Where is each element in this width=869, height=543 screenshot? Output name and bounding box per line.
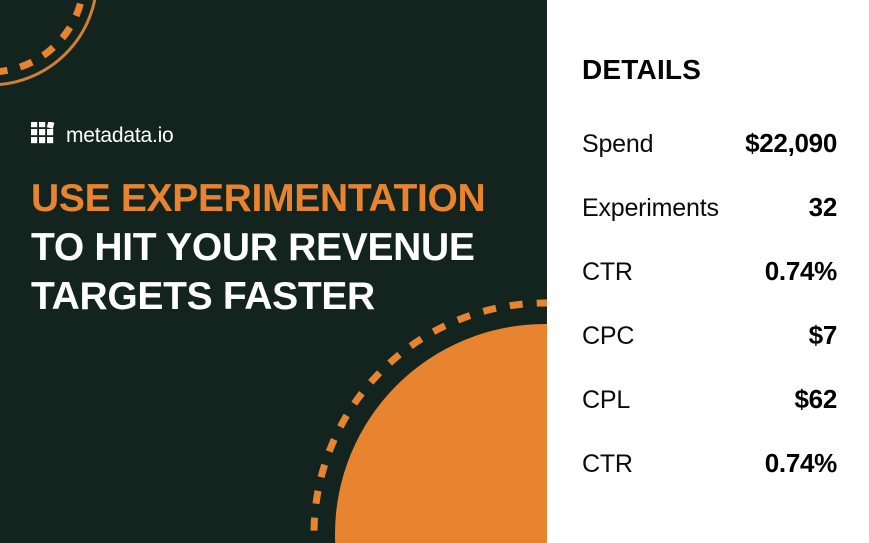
headline-line-3: TARGETS FASTER bbox=[31, 272, 531, 321]
metrics-list: Spend $22,090 Experiments 32 CTR 0.74% C… bbox=[582, 128, 837, 512]
metric-row-experiments: Experiments 32 bbox=[582, 192, 837, 256]
metric-label: CTR bbox=[582, 450, 633, 479]
metric-row-cpc: CPC $7 bbox=[582, 320, 837, 384]
details-title: DETAILS bbox=[582, 56, 701, 84]
ad-creative-details-screen: metadata.io USE EXPERIMENTATION TO HIT Y… bbox=[0, 0, 869, 543]
metric-label: Spend bbox=[582, 130, 653, 159]
dashed-arc-top-left-icon bbox=[0, 0, 84, 72]
metric-row-spend: Spend $22,090 bbox=[582, 128, 837, 192]
metric-value: 0.74% bbox=[765, 448, 837, 479]
orange-circle-bottom-right-icon bbox=[335, 324, 547, 543]
metric-value: 0.74% bbox=[765, 256, 837, 287]
metric-row-ctr: CTR 0.74% bbox=[582, 256, 837, 320]
metric-label: CTR bbox=[582, 258, 633, 287]
metadata-grid-logo-icon bbox=[31, 122, 57, 148]
metric-value: 32 bbox=[809, 192, 837, 223]
creative-panel: metadata.io USE EXPERIMENTATION TO HIT Y… bbox=[0, 0, 547, 543]
metric-value: $22,090 bbox=[745, 128, 837, 159]
solid-arc-top-left-icon bbox=[0, 0, 97, 85]
headline: USE EXPERIMENTATION TO HIT YOUR REVENUE … bbox=[31, 174, 531, 321]
metric-value: $62 bbox=[795, 384, 837, 415]
brand-wordmark: metadata.io bbox=[66, 125, 174, 146]
headline-line-2: TO HIT YOUR REVENUE bbox=[31, 223, 531, 272]
metric-label: Experiments bbox=[582, 194, 719, 223]
headline-line-1: USE EXPERIMENTATION bbox=[31, 174, 531, 223]
metric-label: CPL bbox=[582, 386, 630, 415]
metric-row-ctr-secondary: CTR 0.74% bbox=[582, 448, 837, 512]
metric-label: CPC bbox=[582, 322, 634, 351]
details-panel: DETAILS Spend $22,090 Experiments 32 CTR… bbox=[547, 0, 869, 543]
metric-row-cpl: CPL $62 bbox=[582, 384, 837, 448]
brand-logo: metadata.io bbox=[31, 122, 174, 148]
metric-value: $7 bbox=[809, 320, 837, 351]
